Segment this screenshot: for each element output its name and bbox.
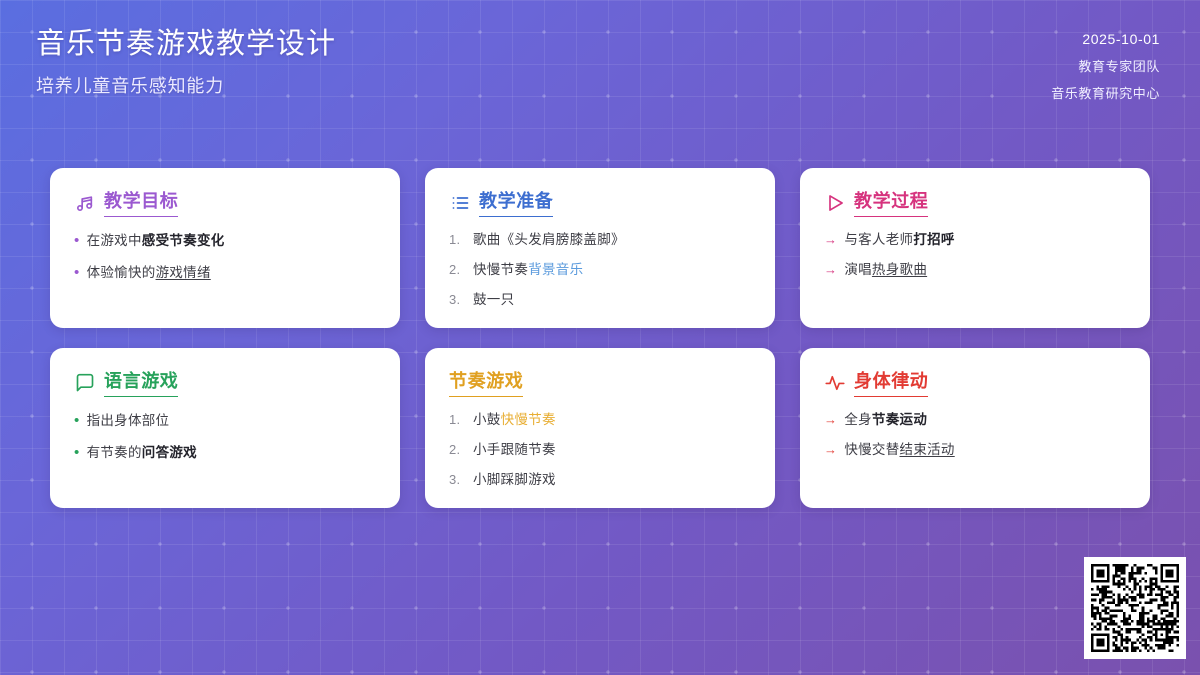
list-item-text: 歌曲《头发肩膀膝盖脚》 xyxy=(473,231,625,249)
list-marker-bullet-icon: • xyxy=(74,411,80,431)
list-item-text: 鼓一只 xyxy=(473,291,514,309)
card-body-movement[interactable]: 身体律动→全身节奏运动→快慢交替结束活动 xyxy=(800,348,1150,508)
card-body: →与客人老师打招呼→演唱热身歌曲 xyxy=(824,231,1126,279)
list-item: •指出身体部位 xyxy=(74,411,376,431)
header-organization: 音乐教育研究中心 xyxy=(1051,87,1160,100)
card-title: 教学目标 xyxy=(104,190,178,217)
card-rhythm-game[interactable]: 节奏游戏1.小鼓快慢节奏2.小手跟随节奏3.小脚踩脚游戏 xyxy=(425,348,775,508)
list-marker-arrow-icon: → xyxy=(824,231,837,249)
card-title: 身体律动 xyxy=(854,370,928,397)
card-header: 身体律动 xyxy=(824,370,1126,397)
card-header: 教学目标 xyxy=(74,190,376,217)
page-title: 音乐节奏游戏教学设计 xyxy=(36,26,336,63)
list-item-text: 快慢节奏背景音乐 xyxy=(473,261,583,279)
card-language-game[interactable]: 语言游戏•指出身体部位•有节奏的问答游戏 xyxy=(50,348,400,508)
list-item-text: 体验愉快的游戏情绪 xyxy=(87,264,211,282)
card-title: 节奏游戏 xyxy=(449,370,523,397)
card-title: 语言游戏 xyxy=(104,370,178,397)
list-marker-number: 1. xyxy=(449,231,466,249)
page-subtitle: 培养儿童音乐感知能力 xyxy=(36,72,336,98)
list-item-text: 与客人老师打招呼 xyxy=(844,231,954,249)
list-marker-number: 3. xyxy=(449,471,466,489)
card-title: 教学过程 xyxy=(854,190,928,217)
header-meta-group: 2025-10-01 教育专家团队 音乐教育研究中心 xyxy=(1051,26,1160,100)
list-item: 3.鼓一只 xyxy=(449,291,751,309)
speech-bubble-icon xyxy=(74,373,95,394)
list-item: •在游戏中感受节奏变化 xyxy=(74,231,376,251)
list-item-text: 快慢交替结束活动 xyxy=(844,441,954,459)
list-item-text: 在游戏中感受节奏变化 xyxy=(87,232,225,250)
list-marker-number: 1. xyxy=(449,411,466,429)
list-marker-number: 3. xyxy=(449,291,466,309)
list-item: 2.快慢节奏背景音乐 xyxy=(449,261,751,279)
list-marker-number: 2. xyxy=(449,261,466,279)
card-body: →全身节奏运动→快慢交替结束活动 xyxy=(824,411,1126,459)
list-item-text: 小手跟随节奏 xyxy=(473,441,556,459)
list-item: •体验愉快的游戏情绪 xyxy=(74,263,376,283)
list-item: 2.小手跟随节奏 xyxy=(449,441,751,459)
slide-header: 音乐节奏游戏教学设计 培养儿童音乐感知能力 2025-10-01 教育专家团队 … xyxy=(0,0,1200,131)
list-marker-bullet-icon: • xyxy=(74,443,80,463)
list-item-text: 演唱热身歌曲 xyxy=(844,261,927,279)
activity-pulse-icon xyxy=(824,373,845,394)
list-item: •有节奏的问答游戏 xyxy=(74,443,376,463)
header-date: 2025-10-01 xyxy=(1082,32,1160,46)
header-title-group: 音乐节奏游戏教学设计 培养儿童音乐感知能力 xyxy=(36,26,336,98)
card-header: 教学过程 xyxy=(824,190,1126,217)
list-marker-number: 2. xyxy=(449,441,466,459)
list-icon xyxy=(449,193,470,214)
card-body: 1.歌曲《头发肩膀膝盖脚》2.快慢节奏背景音乐3.鼓一只 xyxy=(449,231,751,310)
list-item-text: 指出身体部位 xyxy=(87,412,170,430)
music-note-icon xyxy=(74,193,95,214)
list-item: →全身节奏运动 xyxy=(824,411,1126,429)
header-team: 教育专家团队 xyxy=(1078,60,1160,73)
list-marker-bullet-icon: • xyxy=(74,263,80,283)
list-item: 3.小脚踩脚游戏 xyxy=(449,471,751,489)
card-body: •指出身体部位•有节奏的问答游戏 xyxy=(74,411,376,464)
list-item: 1.小鼓快慢节奏 xyxy=(449,411,751,429)
card-grid: 教学目标•在游戏中感受节奏变化•体验愉快的游戏情绪教学准备1.歌曲《头发肩膀膝盖… xyxy=(50,168,1150,508)
list-item-text: 小脚踩脚游戏 xyxy=(473,471,556,489)
list-marker-arrow-icon: → xyxy=(824,411,837,429)
list-marker-bullet-icon: • xyxy=(74,231,80,251)
card-header: 教学准备 xyxy=(449,190,751,217)
list-item-text: 有节奏的问答游戏 xyxy=(87,444,197,462)
card-header: 语言游戏 xyxy=(74,370,376,397)
play-icon xyxy=(824,193,845,214)
list-item: 1.歌曲《头发肩膀膝盖脚》 xyxy=(449,231,751,249)
list-item: →演唱热身歌曲 xyxy=(824,261,1126,279)
qr-code-image xyxy=(1091,564,1179,652)
list-item-text: 全身节奏运动 xyxy=(844,411,927,429)
list-item: →与客人老师打招呼 xyxy=(824,231,1126,249)
card-header: 节奏游戏 xyxy=(449,370,751,397)
list-marker-arrow-icon: → xyxy=(824,261,837,279)
card-teaching-prep[interactable]: 教学准备1.歌曲《头发肩膀膝盖脚》2.快慢节奏背景音乐3.鼓一只 xyxy=(425,168,775,328)
card-body: •在游戏中感受节奏变化•体验愉快的游戏情绪 xyxy=(74,231,376,284)
card-teaching-process[interactable]: 教学过程→与客人老师打招呼→演唱热身歌曲 xyxy=(800,168,1150,328)
list-item: →快慢交替结束活动 xyxy=(824,441,1126,459)
list-item-text: 小鼓快慢节奏 xyxy=(473,411,556,429)
list-marker-arrow-icon: → xyxy=(824,441,837,459)
card-body: 1.小鼓快慢节奏2.小手跟随节奏3.小脚踩脚游戏 xyxy=(449,411,751,490)
qr-code[interactable] xyxy=(1084,557,1186,659)
card-teaching-goals[interactable]: 教学目标•在游戏中感受节奏变化•体验愉快的游戏情绪 xyxy=(50,168,400,328)
slide-canvas: 音乐节奏游戏教学设计 培养儿童音乐感知能力 2025-10-01 教育专家团队 … xyxy=(0,0,1200,675)
card-title: 教学准备 xyxy=(479,190,553,217)
